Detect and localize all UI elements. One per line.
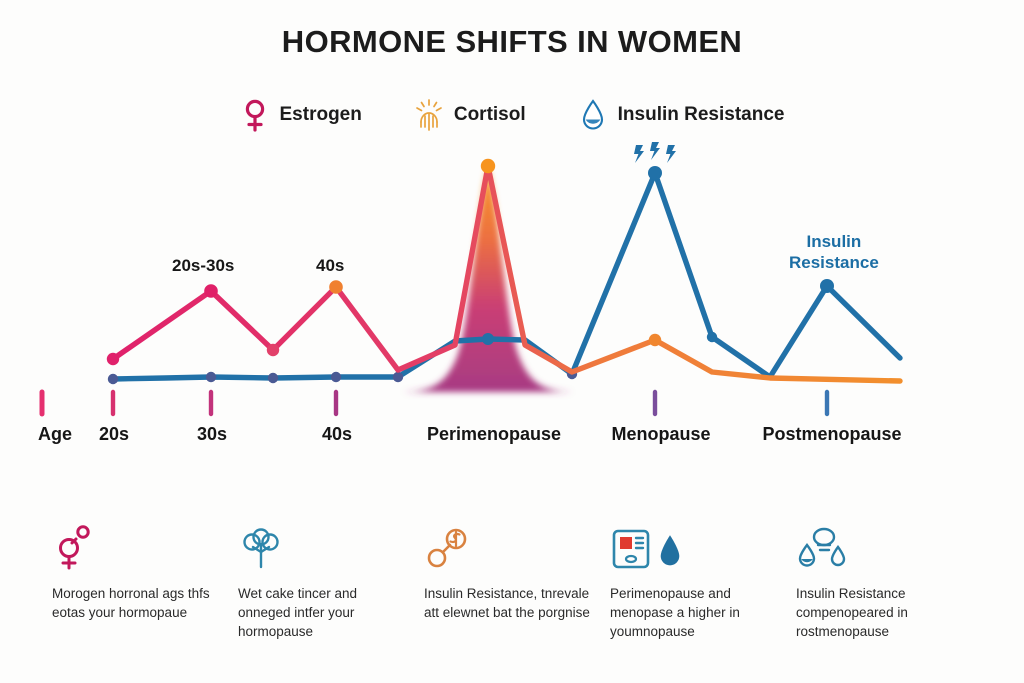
axis-label-postmenopause: Postmenopause — [762, 424, 901, 445]
footer-note-4-icons — [610, 528, 782, 576]
footer-note-5-icons — [796, 528, 968, 576]
monitor-screen-icon — [610, 525, 652, 576]
footer-note-1-icons — [52, 528, 224, 576]
footer-note-2-text: Wet cake tincer and onneged intfer your … — [238, 584, 410, 641]
footer-note-2-icons — [238, 528, 410, 576]
axis-label-perimenopause: Perimenopause — [427, 424, 561, 445]
axis-label-20s: 20s — [99, 424, 129, 445]
footer-note-4-text: Perimenopause and menopase a higher in y… — [610, 584, 782, 641]
footer-note-5-text: Insulin Resistance compenopeared in rost… — [796, 584, 968, 641]
footer-note-1: Morogen horronal ags thfs eotas your hor… — [52, 528, 238, 641]
footer-note-1-text: Morogen horronal ags thfs eotas your hor… — [52, 584, 224, 622]
droplets-flask-icon — [796, 525, 848, 576]
water-droplet-icon — [657, 531, 683, 576]
axis-label-40s: 40s — [322, 424, 352, 445]
footer-note-3-icons — [424, 528, 596, 576]
footer-notes: Morogen horronal ags thfs eotas your hor… — [52, 528, 982, 641]
footer-note-3: Insulin Resistance, tnrevale att elewnet… — [424, 528, 610, 641]
footer-note-2: Wet cake tincer and onneged intfer your … — [238, 528, 424, 641]
footer-note-4: Perimenopause and menopase a higher in y… — [610, 528, 796, 641]
axis-label-age: Age — [38, 424, 72, 445]
venus-mars-combined-icon — [52, 525, 94, 576]
footer-note-3-text: Insulin Resistance, tnrevale att elewnet… — [424, 584, 596, 622]
molecule-dollar-icon — [424, 525, 470, 576]
axis-label-menopause: Menopause — [611, 424, 710, 445]
footer-note-5: Insulin Resistance compenopeared in rost… — [796, 528, 982, 641]
tree-icon — [238, 525, 284, 576]
infographic-canvas: HORMONE SHIFTS IN WOMEN Estrogen — [0, 0, 1024, 683]
axis-label-30s: 30s — [197, 424, 227, 445]
